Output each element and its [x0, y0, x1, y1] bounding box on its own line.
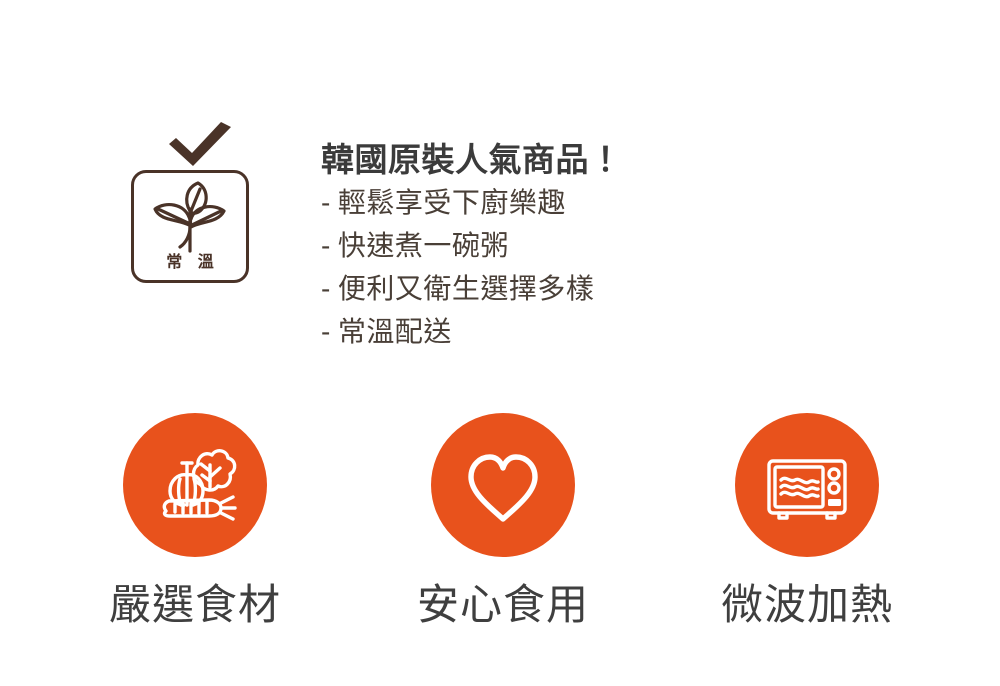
feature-icon-circle	[123, 413, 267, 557]
list-item-text: 常溫配送	[338, 316, 452, 347]
heart-icon	[455, 437, 551, 533]
feature-label: 嚴選食材	[109, 584, 281, 626]
vegetables-icon	[147, 437, 243, 533]
checkmark-icon	[165, 120, 237, 168]
bullet-dash: -	[321, 232, 331, 260]
list-item-text: 快速煮一碗粥	[338, 230, 509, 261]
headline: 韓國原裝人氣商品！	[321, 142, 1000, 178]
list-item: -輕鬆享受下廚樂趣	[321, 189, 1000, 217]
list-item: -便利又衛生選擇多樣	[321, 275, 1000, 303]
feature-label: 微波加熱	[721, 584, 893, 626]
feature-icon-circle	[735, 413, 879, 557]
feature-icon-row: 嚴選食材 安心食用	[0, 413, 1000, 626]
feature-item-microwave: 微波加熱	[657, 413, 957, 626]
list-item: -快速煮一碗粥	[321, 232, 1000, 260]
badge-caption: 常 溫	[161, 254, 219, 270]
feature-bullet-list: -輕鬆享受下廚樂趣 -快速煮一碗粥 -便利又衛生選擇多樣 -常溫配送	[321, 189, 1000, 346]
feature-panel: 常 溫 韓國原裝人氣商品！ -輕鬆享受下廚樂趣 -快速煮一碗粥 -便利又衛生選擇…	[0, 0, 1000, 686]
list-item: -常溫配送	[321, 318, 1000, 346]
feature-item-safe-to-eat: 安心食用	[349, 413, 657, 626]
intro-text-block: 韓國原裝人氣商品！ -輕鬆享受下廚樂趣 -快速煮一碗粥 -便利又衛生選擇多樣 -…	[320, 120, 1000, 361]
bullet-dash: -	[321, 189, 331, 217]
list-item-text: 輕鬆享受下廚樂趣	[338, 187, 566, 218]
microwave-icon	[759, 437, 855, 533]
badge-frame: 常 溫	[131, 170, 249, 283]
list-item-text: 便利又衛生選擇多樣	[338, 273, 595, 304]
bullet-dash: -	[321, 318, 331, 346]
feature-icon-circle	[431, 413, 575, 557]
bullet-dash: -	[321, 275, 331, 303]
intro-section: 常 溫 韓國原裝人氣商品！ -輕鬆享受下廚樂趣 -快速煮一碗粥 -便利又衛生選擇…	[0, 120, 1000, 390]
three-leaves-icon	[144, 179, 236, 253]
feature-item-ingredients: 嚴選食材	[41, 413, 349, 626]
ambient-temperature-badge: 常 溫	[60, 120, 320, 283]
feature-label: 安心食用	[417, 584, 589, 626]
